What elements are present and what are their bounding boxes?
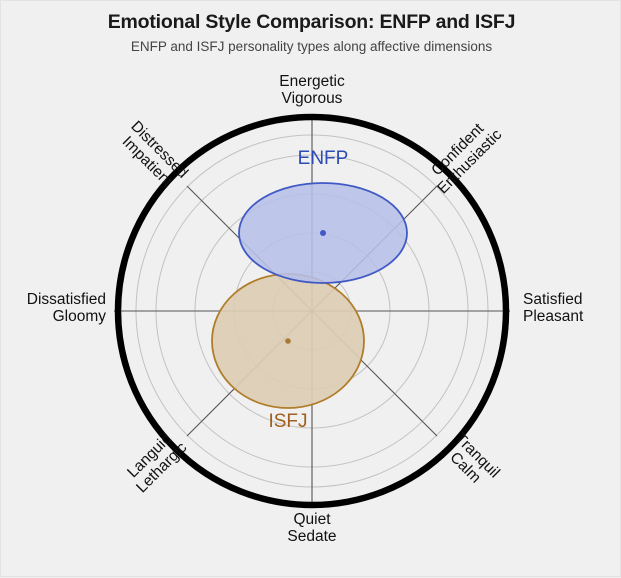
axis-label-top: Energetic Vigorous <box>279 73 344 108</box>
axis-label-top-line1: Energetic <box>279 73 344 90</box>
axis-label-top-line2: Vigorous <box>279 90 344 107</box>
axis-label-bottom-line1: Quiet <box>287 511 336 528</box>
series-center-dot-isfj <box>285 338 291 344</box>
axis-label-right-line2: Pleasant <box>523 308 583 325</box>
axis-label-bottom-line2: Sedate <box>287 528 336 545</box>
series-label-isfj: ISFJ <box>268 411 307 433</box>
axis-label-left: Dissatisfied Gloomy <box>27 291 106 326</box>
axis-label-left-line1: Dissatisfied <box>27 291 106 308</box>
axis-label-left-line2: Gloomy <box>27 308 106 325</box>
axis-label-right: Satisfied Pleasant <box>523 291 583 326</box>
series-label-enfp: ENFP <box>298 148 349 170</box>
axis-label-right-line1: Satisfied <box>523 291 583 308</box>
axis-label-bottom: Quiet Sedate <box>287 511 336 546</box>
chart-container: Emotional Style Comparison: ENFP and ISF… <box>0 0 621 577</box>
series-center-dot-enfp <box>320 230 326 236</box>
